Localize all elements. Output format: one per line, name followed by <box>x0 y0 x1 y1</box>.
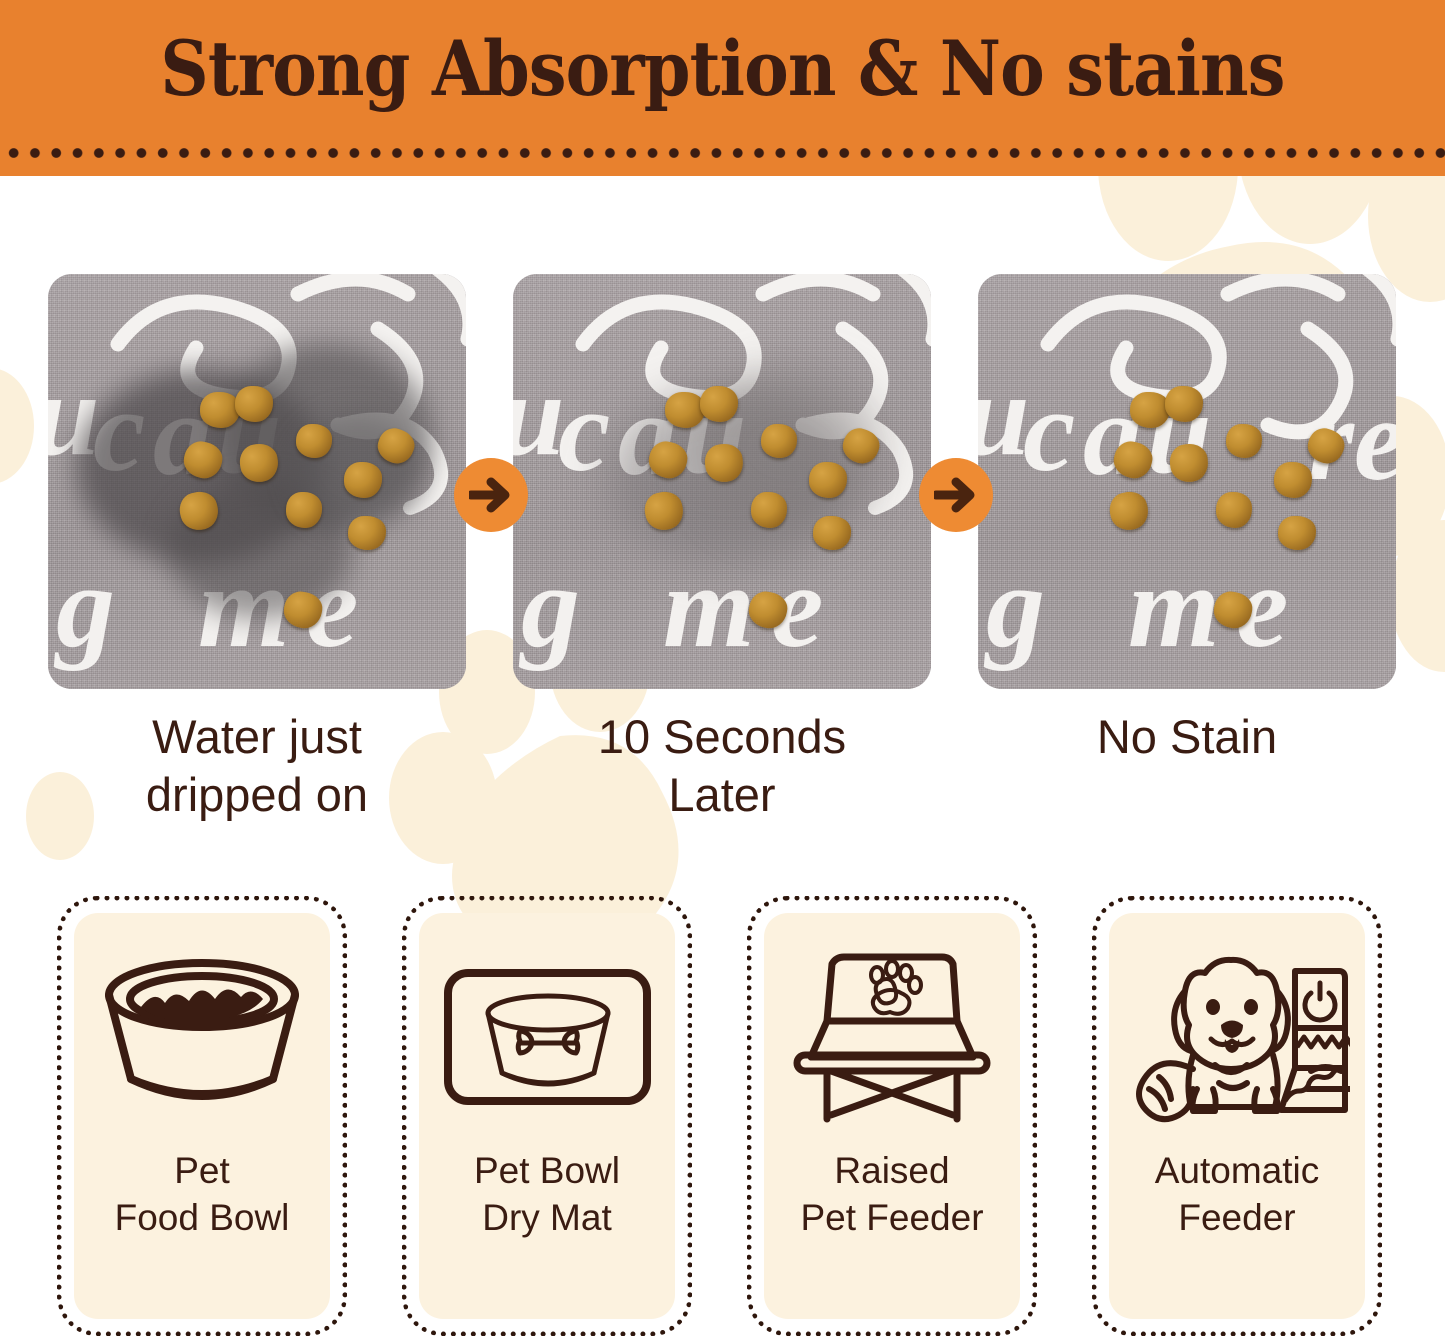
feature-card-label: Pet Food Bowl <box>115 1147 290 1241</box>
svg-text:g: g <box>983 541 1045 672</box>
raised-pet-feeder-icon <box>777 941 1007 1131</box>
step-arrow-2[interactable] <box>919 458 993 532</box>
kibble-piece <box>1226 424 1262 458</box>
svg-text:a: a <box>1083 369 1142 500</box>
svg-text:c: c <box>558 365 610 496</box>
card-inner: Raised Pet Feeder <box>764 913 1020 1319</box>
automatic-feeder-icon <box>1122 941 1352 1131</box>
pet-food-bowl-icon <box>87 941 317 1131</box>
demo-caption-1: Water just dripped on <box>48 708 466 824</box>
kibble-piece <box>813 516 851 550</box>
demo-photo-panel-1[interactable]: u c a u g m e <box>48 274 466 689</box>
kibble-piece <box>1278 516 1316 550</box>
feature-card-pet-bowl-dry-mat[interactable]: Pet Bowl Dry Mat <box>402 896 692 1336</box>
svg-text:m: m <box>1128 541 1220 672</box>
compatible-products-row: Pet Food Bowl Pet Bowl Dry Ma <box>0 896 1445 1342</box>
kibble-piece <box>1165 386 1203 422</box>
card-inner: Pet Food Bowl <box>74 913 330 1319</box>
kibble-piece <box>761 424 797 458</box>
kibble-piece <box>1130 392 1170 428</box>
arrow-right-icon <box>934 475 978 515</box>
kibble-piece <box>348 516 386 550</box>
header-dotted-divider <box>0 146 1445 160</box>
kibble-piece <box>235 386 273 422</box>
kibble-piece <box>344 462 382 498</box>
pet-bowl-dry-mat-icon <box>432 941 662 1131</box>
feature-card-label: Automatic Feeder <box>1155 1147 1320 1241</box>
feature-card-label: Raised Pet Feeder <box>800 1147 983 1241</box>
arrow-right-icon <box>469 475 513 515</box>
demo-caption-3: No Stain <box>978 708 1396 766</box>
kibble-piece <box>1216 492 1252 528</box>
svg-text:u: u <box>513 349 565 480</box>
svg-text:g: g <box>518 541 580 672</box>
kibble-piece <box>200 392 240 428</box>
svg-text:g: g <box>53 541 115 672</box>
step-arrow-1[interactable] <box>454 458 528 532</box>
header-banner: Strong Absorption & No stains <box>0 0 1445 176</box>
demo-caption-2: 10 Seconds Later <box>513 708 931 824</box>
page-title: Strong Absorption & No stains <box>87 26 1359 112</box>
demo-photo-panel-2[interactable]: u c a u g m e <box>513 274 931 689</box>
kibble-piece <box>809 462 847 498</box>
feature-card-label: Pet Bowl Dry Mat <box>474 1147 620 1241</box>
card-inner: Automatic Feeder <box>1109 913 1365 1319</box>
card-inner: Pet Bowl Dry Mat <box>419 913 675 1319</box>
svg-text:c: c <box>1023 365 1075 496</box>
kibble-piece <box>700 386 738 422</box>
feature-card-raised-pet-feeder[interactable]: Raised Pet Feeder <box>747 896 1037 1336</box>
kibble-piece <box>1274 462 1312 498</box>
svg-text:u: u <box>978 349 1030 480</box>
demo-photo-panel-3[interactable]: u c a u re g m e <box>978 274 1396 689</box>
kibble-piece <box>296 424 332 458</box>
feature-card-automatic-feeder[interactable]: Automatic Feeder <box>1092 896 1382 1336</box>
kibble-piece <box>665 392 705 428</box>
kibble-piece <box>751 492 787 528</box>
feature-card-pet-food-bowl[interactable]: Pet Food Bowl <box>57 896 347 1336</box>
kibble-piece <box>286 492 322 528</box>
